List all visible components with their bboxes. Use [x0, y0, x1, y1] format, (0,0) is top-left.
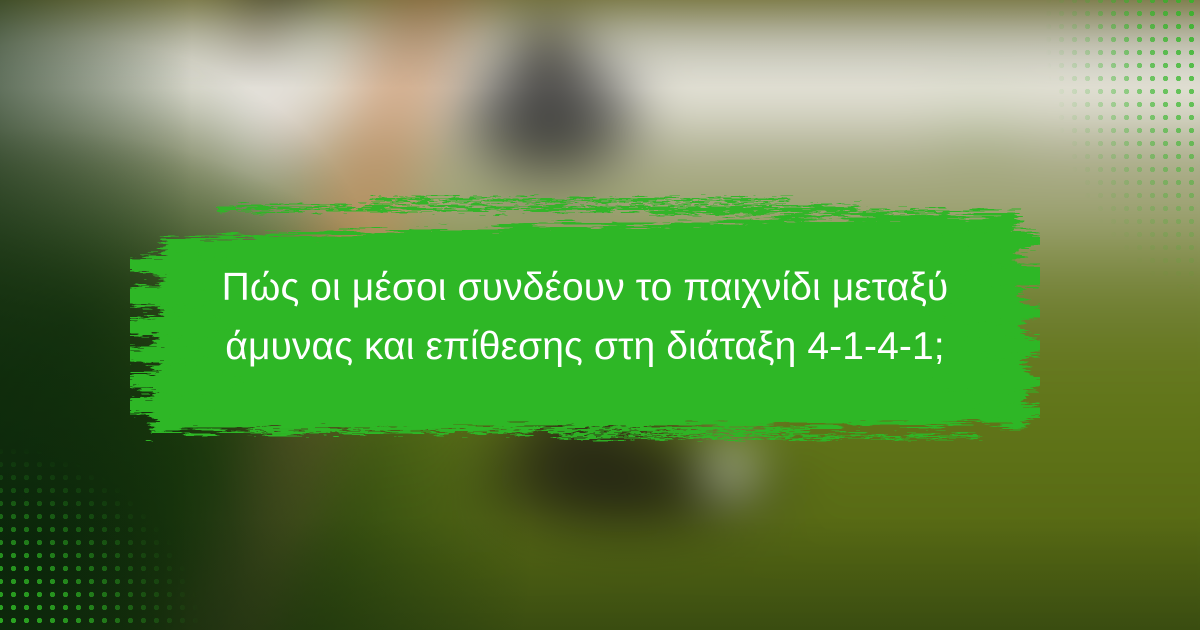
banner-top-streaks — [220, 198, 950, 214]
page-title: Πώς οι μέσοι συνδέουν το παιχνίδι μεταξύ… — [170, 258, 1000, 376]
banner-bottom-streaks — [250, 428, 980, 439]
halftone-dots-top-right-icon — [1016, 0, 1200, 324]
social-card: Πώς οι μέσοι συνδέουν το παιχνίδι μεταξύ… — [0, 0, 1200, 630]
